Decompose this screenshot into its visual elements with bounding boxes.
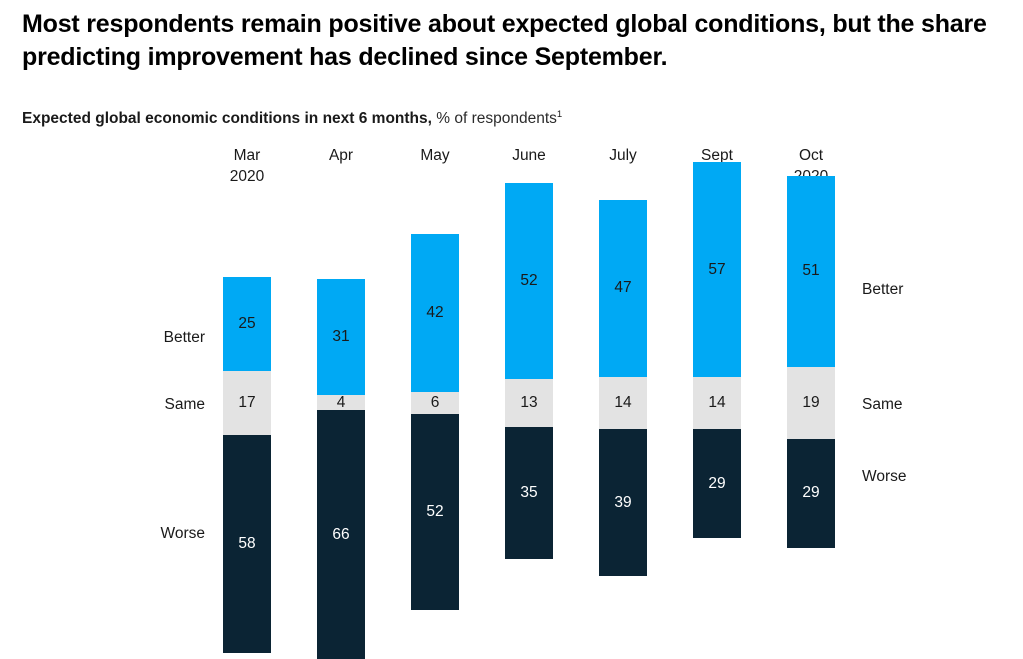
legend-label-left-worse: Worse (160, 525, 205, 543)
legend-label-left-same: Same (165, 396, 206, 414)
bar-value-label: 35 (505, 485, 553, 501)
legend-label-left-better: Better (164, 329, 205, 347)
x-axis-label-month: Apr (329, 147, 353, 164)
x-axis-label: Apr (294, 146, 388, 167)
bar-column: Oct2020511929 (764, 0, 858, 642)
right-category-labels: BetterSameWorse (862, 0, 1012, 642)
bar-segment-same[interactable]: 14 (693, 377, 741, 430)
bar-segment-better[interactable]: 51 (787, 176, 835, 368)
x-axis-label: June (482, 146, 576, 167)
stacked-bar[interactable]: 471439 (599, 200, 647, 576)
stacked-bar-chart: BetterSameWorse BetterSameWorse Mar20202… (0, 0, 1023, 642)
bar-segment-worse[interactable]: 58 (223, 435, 271, 653)
stacked-bar[interactable]: 521335 (505, 183, 553, 559)
stacked-bar[interactable]: 251758 (223, 277, 271, 653)
bar-segment-worse[interactable]: 66 (317, 410, 365, 658)
stacked-bar[interactable]: 511929 (787, 176, 835, 548)
x-axis-label-month: May (420, 147, 449, 164)
bar-value-label: 52 (411, 504, 459, 520)
bar-value-label: 52 (505, 273, 553, 289)
bar-value-label: 29 (693, 476, 741, 492)
bar-value-label: 39 (599, 495, 647, 511)
bar-segment-better[interactable]: 42 (411, 234, 459, 392)
x-axis-label: May (388, 146, 482, 167)
x-axis-label: Mar2020 (200, 146, 294, 187)
legend-label-right-same: Same (862, 396, 903, 414)
left-category-labels: BetterSameWorse (30, 0, 205, 642)
bar-segment-better[interactable]: 47 (599, 200, 647, 377)
bar-segment-same[interactable]: 19 (787, 367, 835, 438)
bar-segment-same[interactable]: 6 (411, 392, 459, 415)
stacked-bar[interactable]: 571429 (693, 162, 741, 538)
bar-value-label: 14 (693, 395, 741, 411)
bar-segment-worse[interactable]: 39 (599, 429, 647, 576)
bar-value-label: 42 (411, 305, 459, 321)
bar-segment-same[interactable]: 4 (317, 395, 365, 410)
bar-value-label: 29 (787, 485, 835, 501)
bar-segment-worse[interactable]: 52 (411, 414, 459, 610)
bar-value-label: 6 (411, 395, 459, 411)
bar-value-label: 57 (693, 262, 741, 278)
bar-value-label: 31 (317, 329, 365, 345)
bar-value-label: 51 (787, 263, 835, 279)
x-axis-label-year: 2020 (200, 167, 294, 188)
x-axis-label-month: Oct (799, 147, 823, 164)
bar-column: July471439 (576, 0, 670, 642)
x-axis-label-month: June (512, 147, 546, 164)
bar-segment-better[interactable]: 52 (505, 183, 553, 379)
bar-segment-better[interactable]: 25 (223, 277, 271, 371)
bar-value-label: 14 (599, 395, 647, 411)
bar-value-label: 17 (223, 395, 271, 411)
bar-column: May42652 (388, 0, 482, 642)
legend-label-right-worse: Worse (862, 468, 907, 486)
bar-value-label: 19 (787, 395, 835, 411)
bar-segment-same[interactable]: 14 (599, 377, 647, 430)
x-axis-label-month: July (609, 147, 637, 164)
bar-segment-same[interactable]: 13 (505, 379, 553, 428)
bar-segment-better[interactable]: 31 (317, 279, 365, 396)
bar-segment-better[interactable]: 57 (693, 162, 741, 376)
bar-value-label: 25 (223, 316, 271, 332)
x-axis-label: July (576, 146, 670, 167)
x-axis-label-month: Mar (234, 147, 261, 164)
bar-segment-same[interactable]: 17 (223, 371, 271, 435)
bar-value-label: 4 (317, 395, 365, 411)
bar-segment-worse[interactable]: 29 (787, 439, 835, 548)
bar-column: Mar2020251758 (200, 0, 294, 642)
bar-value-label: 47 (599, 280, 647, 296)
stacked-bar[interactable]: 31466 (317, 279, 365, 659)
bar-column: Sept571429 (670, 0, 764, 642)
bar-value-label: 66 (317, 527, 365, 543)
bar-column: June521335 (482, 0, 576, 642)
stacked-bar[interactable]: 42652 (411, 234, 459, 610)
bar-value-label: 13 (505, 395, 553, 411)
bar-segment-worse[interactable]: 29 (693, 429, 741, 538)
bar-value-label: 58 (223, 536, 271, 552)
bar-column: Apr31466 (294, 0, 388, 642)
bar-segment-worse[interactable]: 35 (505, 427, 553, 559)
legend-label-right-better: Better (862, 281, 903, 299)
